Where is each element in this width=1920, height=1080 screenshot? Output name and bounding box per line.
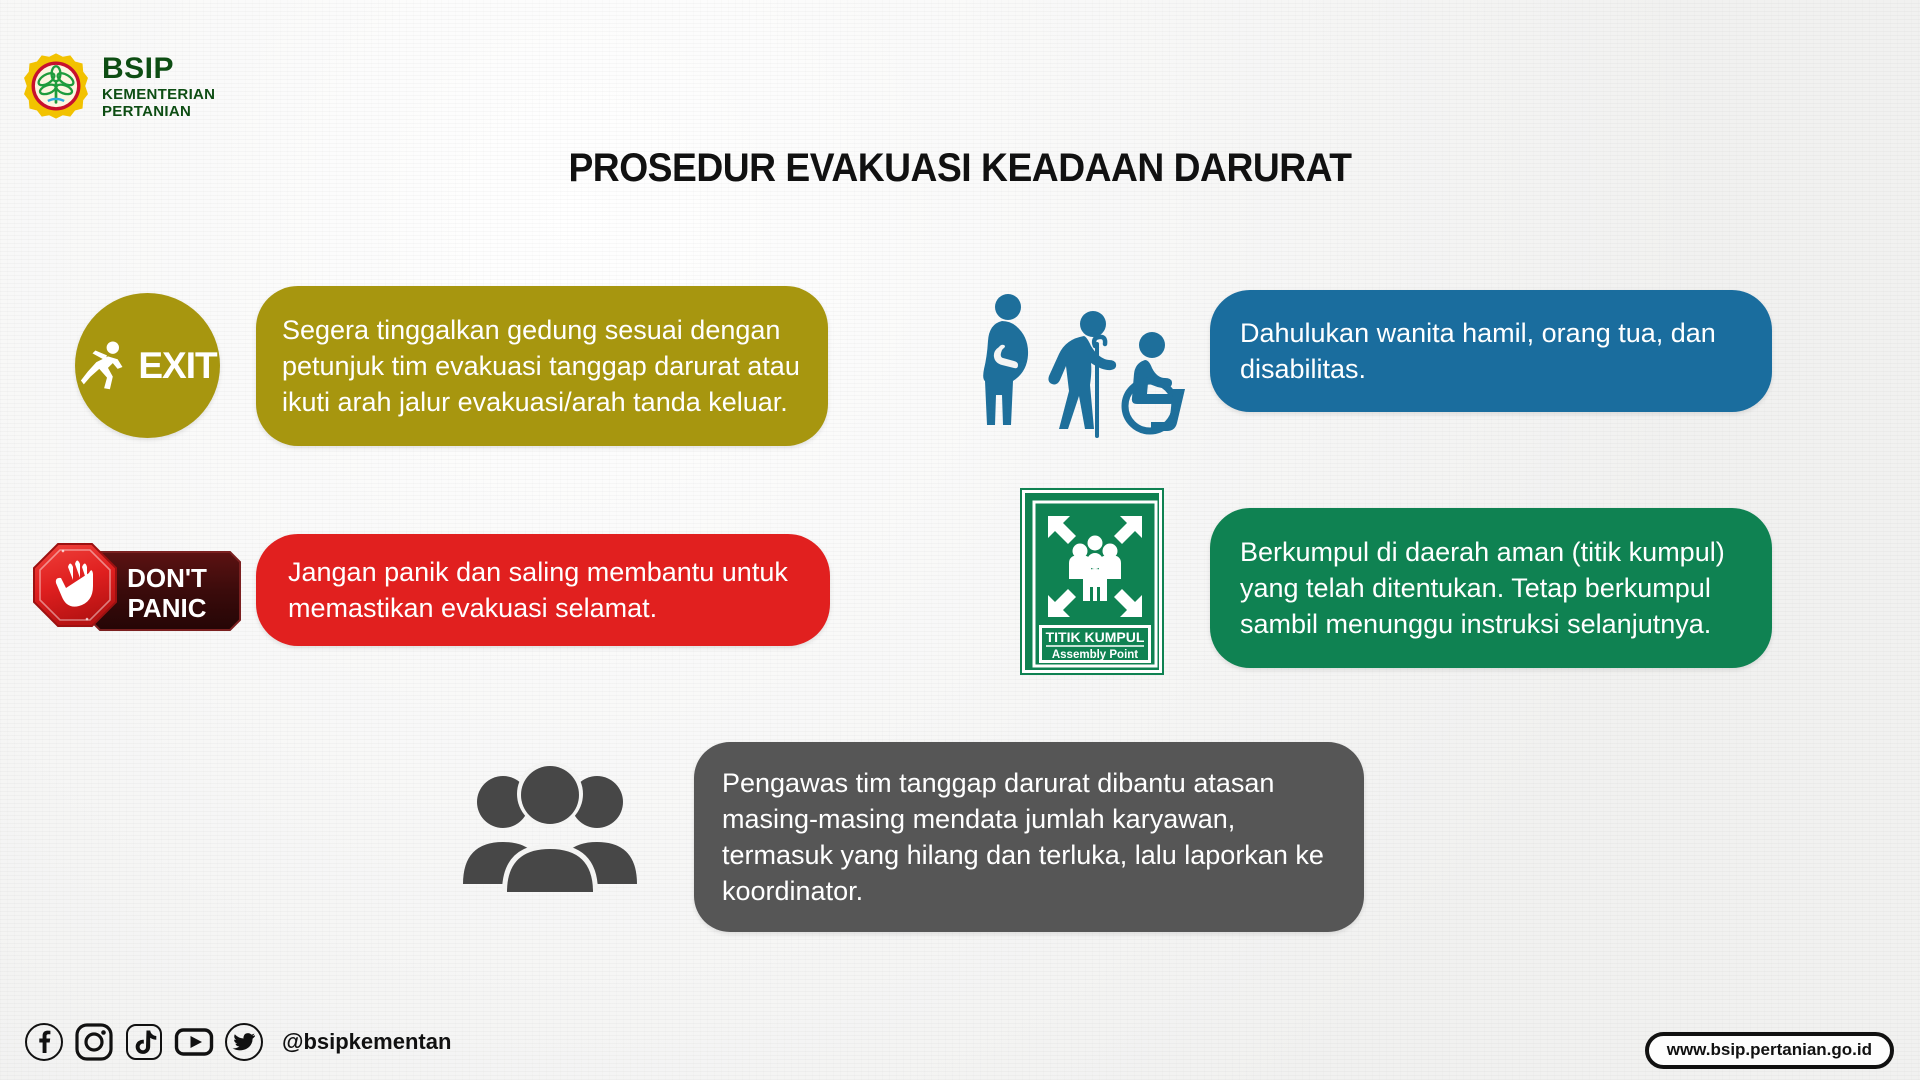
footer-social-bar: @bsipkementan [24, 1022, 451, 1062]
people-group-icon [455, 752, 645, 892]
assembly-sign-title: TITIK KUMPUL [1046, 629, 1145, 645]
priority-persons-icon [975, 290, 1205, 440]
exit-running-man-icon [78, 337, 136, 395]
pregnant-woman-icon [983, 294, 1028, 425]
dont-panic-icon-badge: DON'T PANIC [30, 542, 245, 637]
card-dont-panic: Jangan panik dan saling membantu untuk m… [256, 534, 830, 646]
instagram-icon[interactable] [74, 1022, 114, 1062]
assembly-sign-subtitle: Assembly Point [1052, 649, 1138, 661]
page-title: PROSEDUR EVAKUASI KEADAAN DARURAT [67, 146, 1853, 191]
card-dont-panic-text: Jangan panik dan saling membantu untuk m… [288, 554, 802, 626]
dont-panic-line1: DON'T [127, 563, 207, 593]
assembly-point-sign-icon: TITIK KUMPUL Assembly Point [1022, 490, 1162, 673]
card-assembly-point: Berkumpul di daerah aman (titik kumpul) … [1210, 508, 1772, 668]
logo-ministry-line1: KEMENTERIAN [102, 87, 215, 102]
elderly-person-icon [1048, 311, 1116, 438]
card-supervisor-text: Pengawas tim tanggap darurat dibantu ata… [722, 765, 1338, 910]
youtube-icon[interactable] [174, 1022, 214, 1062]
card-exit-text: Segera tinggalkan gedung sesuai dengan p… [282, 312, 800, 421]
website-url-badge[interactable]: www.bsip.pertanian.go.id [1645, 1032, 1894, 1069]
card-exit: Segera tinggalkan gedung sesuai dengan p… [256, 286, 828, 446]
bsip-logo: BSIP KEMENTERIAN PERTANIAN [22, 52, 215, 120]
wheelchair-icon [1125, 332, 1185, 431]
tiktok-icon[interactable] [124, 1022, 164, 1062]
logo-ministry-line2: PERTANIAN [102, 104, 215, 119]
facebook-icon[interactable] [24, 1022, 64, 1062]
twitter-icon[interactable] [224, 1022, 264, 1062]
exit-icon-badge: EXIT [75, 293, 220, 438]
dont-panic-line2: PANIC [128, 593, 207, 623]
social-handle: @bsipkementan [282, 1029, 451, 1055]
logo-brand: BSIP [102, 54, 215, 84]
card-priority: Dahulukan wanita hamil, orang tua, dan d… [1210, 290, 1772, 412]
card-priority-text: Dahulukan wanita hamil, orang tua, dan d… [1240, 315, 1746, 387]
bsip-logo-mark-icon [22, 52, 90, 120]
card-supervisor: Pengawas tim tanggap darurat dibantu ata… [694, 742, 1364, 932]
card-assembly-point-text: Berkumpul di daerah aman (titik kumpul) … [1240, 534, 1746, 643]
exit-label: EXIT [138, 345, 216, 387]
